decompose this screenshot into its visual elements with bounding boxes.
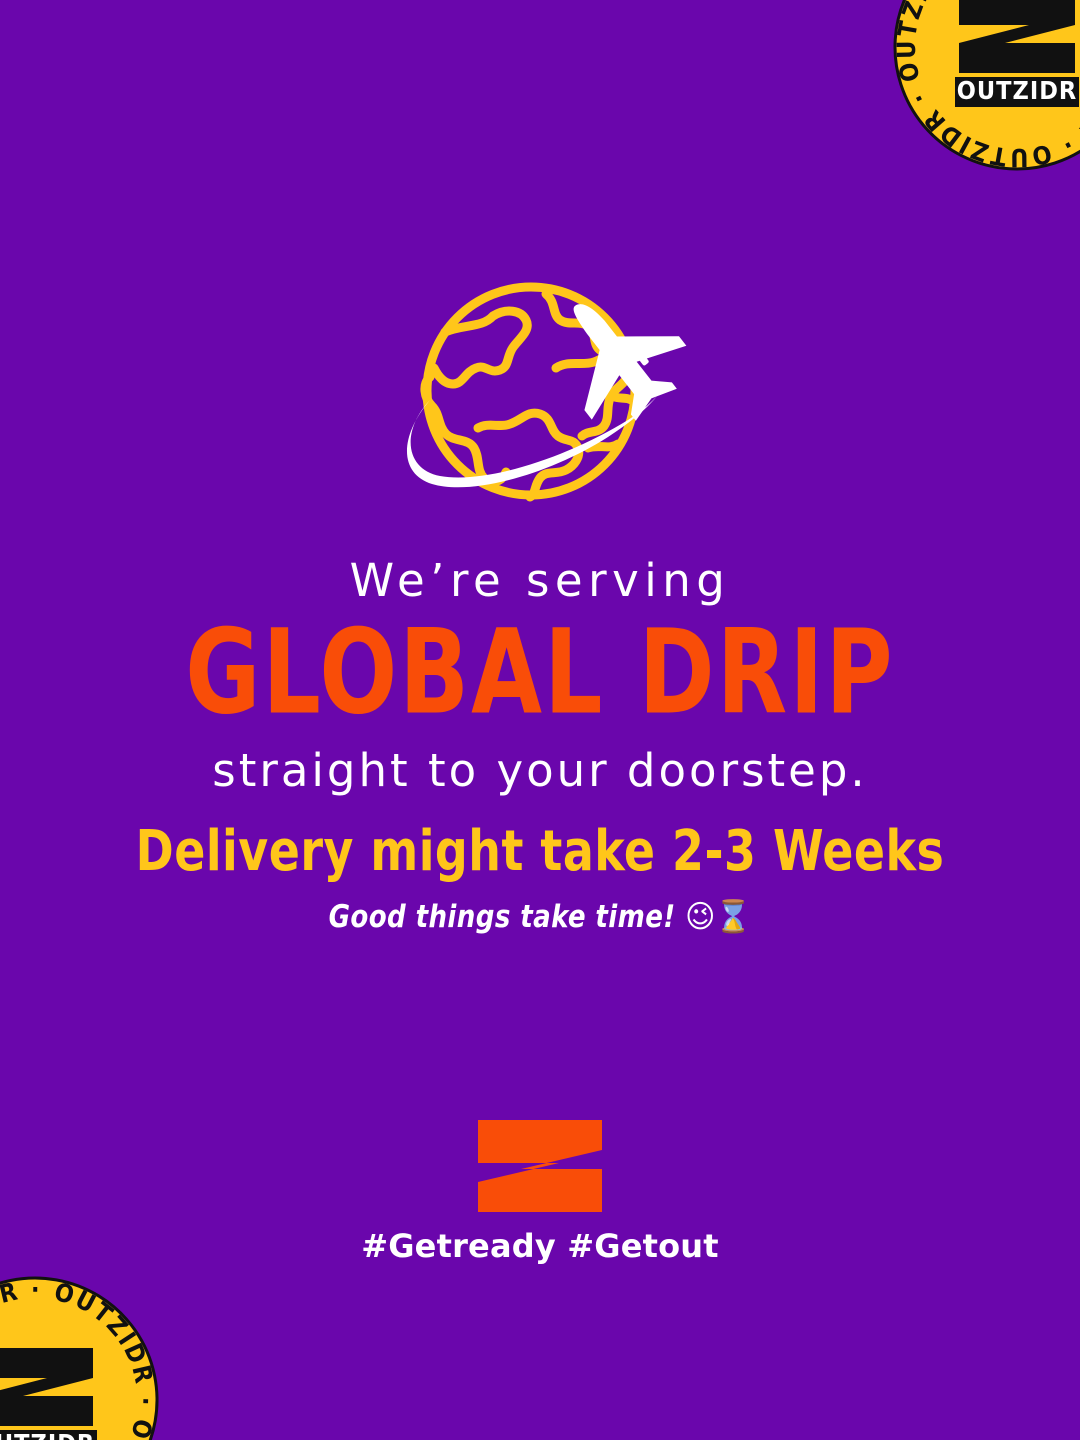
headline-sub: straight to your doorstep.: [0, 742, 1080, 800]
outzidr-badge-top-right: OUTZIDR · OUTZIDR · OUTZIDR · OUTZIDR · …: [859, 0, 1080, 205]
footer-block: #Getready #Getout: [0, 1120, 1080, 1267]
airplane-icon: [530, 272, 703, 442]
delivery-notice-block: Delivery might take 2-3 Weeks Good thing…: [0, 820, 1080, 936]
outzidr-badge-bottom-left: OUTZIDR · OUTZIDR · OUTZIDR · OUTZIDR · …: [0, 1255, 180, 1440]
delivery-subline: Good things take time! 😉⌛: [0, 894, 1080, 937]
badge-center-logo: OUTZIDR: [955, 0, 1079, 107]
delivery-subline-text: Good things take time!: [329, 898, 676, 935]
headline-eyebrow: We’re serving: [0, 552, 1080, 610]
wink-and-hourglass-emoji: 😉⌛: [685, 898, 751, 935]
headline-main: GLOBAL DRIP: [0, 604, 1080, 741]
poster-canvas: OUTZIDR · OUTZIDR · OUTZIDR · OUTZIDR · …: [0, 0, 1080, 1440]
outzidr-z-logomark: [478, 1120, 602, 1212]
globe-with-airplane-illustration: [360, 272, 720, 512]
headline-block: We’re serving GLOBAL DRIP straight to yo…: [0, 552, 1080, 800]
delivery-headline: Delivery might take 2-3 Weeks: [0, 816, 1080, 885]
badge-wordmark: OUTZIDR: [957, 76, 1077, 105]
badge-wordmark: OUTZIDR: [0, 1429, 95, 1440]
footer-hashtags: #Getready #Getout: [0, 1225, 1080, 1267]
